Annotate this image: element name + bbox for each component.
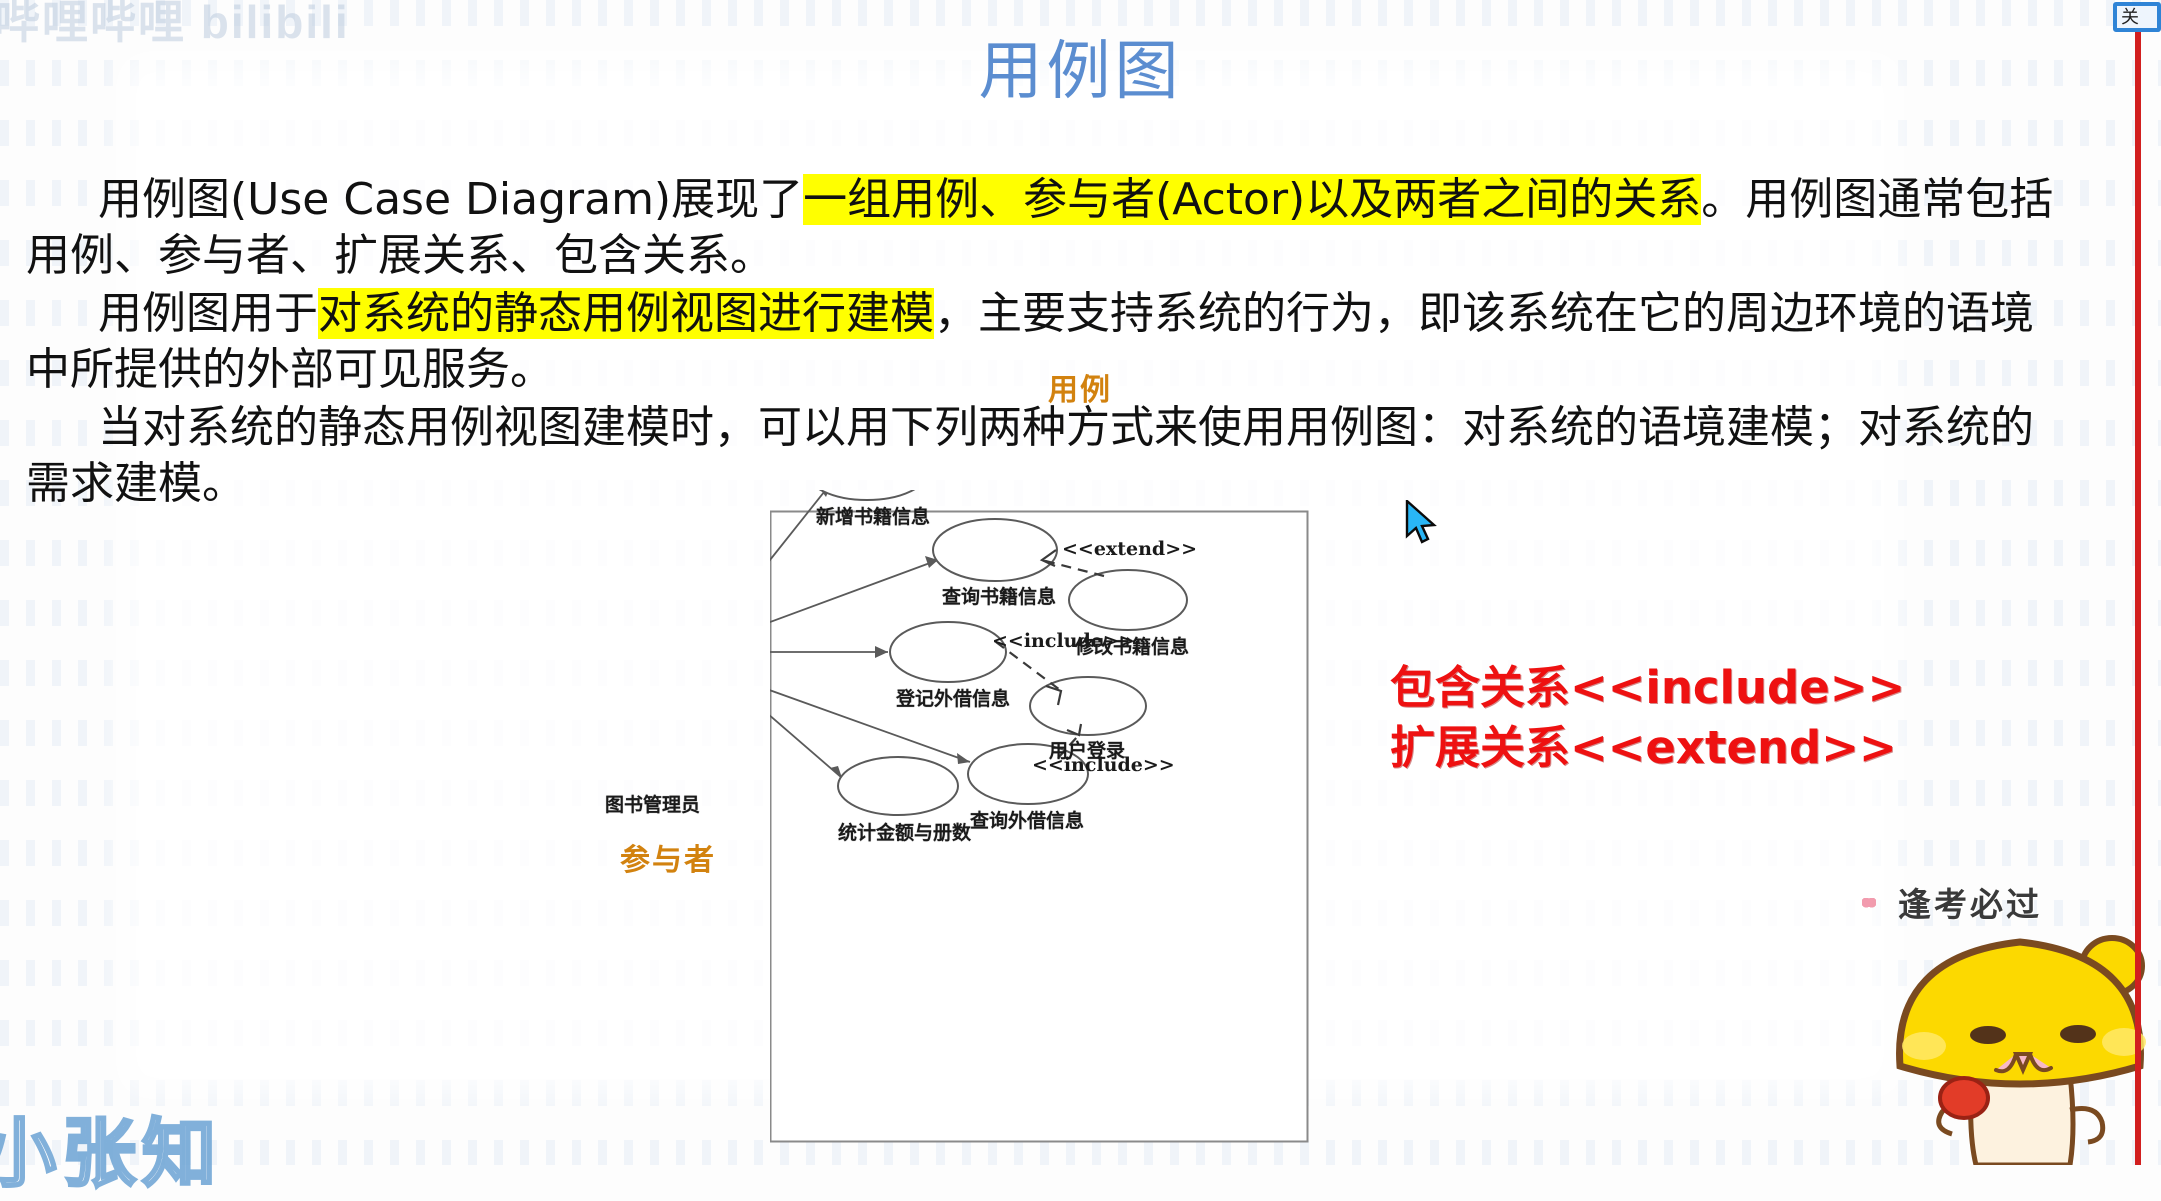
use-case-label-uc7: 查询外借信息 [970, 806, 1084, 833]
right-red-rule [2135, 22, 2141, 1165]
mascot-canvas [1880, 870, 2161, 1165]
callout-line-include: 包含关系<<include>> [1390, 658, 1905, 718]
cursor-arrow-icon [1407, 501, 1434, 542]
use-case-ellipse-uc3 [1069, 570, 1187, 630]
mascot-blush-left [1902, 1032, 1946, 1060]
mascot-eye-left [1970, 1026, 2006, 1044]
use-case-ellipse-uc4 [890, 622, 1006, 682]
stereotype-include-1: <<include>> [992, 630, 1135, 652]
p2-highlight: 对系统的静态用例视图进行建模 [318, 288, 934, 339]
use-case-ellipse-uc6 [838, 757, 958, 815]
annotation-actor-label: 参与者 [620, 835, 716, 879]
mascot-red-item [1940, 1078, 1988, 1118]
bottom-left-watermark: 小张知 [0, 1094, 222, 1201]
callout-line-extend: 扩展关系<<extend>> [1390, 718, 1905, 778]
top-right-chip[interactable]: 关 [2113, 2, 2161, 32]
slide-body: 用例图(Use Case Diagram)展现了一组用例、参与者(Actor)以… [26, 172, 2071, 514]
use-case-label-uc2: 查询书籍信息 [942, 582, 1056, 609]
mascot-mushroom-character [1880, 870, 2161, 1165]
paragraph-1: 用例图(Use Case Diagram)展现了一组用例、参与者(Actor)以… [26, 172, 2071, 284]
p2-seg-0: 用例图用于 [98, 288, 318, 339]
p1-highlight: 一组用例、参与者(Actor)以及两者之间的关系 [803, 174, 1701, 225]
stereotype-include-2: <<include>> [1032, 754, 1175, 776]
use-case-ellipse-uc2 [933, 519, 1057, 581]
use-case-label-uc1: 新增书籍信息 [816, 502, 930, 529]
stereotype-extend: <<extend>> [1062, 538, 1197, 560]
use-case-label-uc4: 登记外借信息 [896, 684, 1010, 711]
annotation-usecase-label: 用例 [1048, 365, 1112, 409]
mascot-body [1900, 938, 2146, 1165]
relationship-callout: 包含关系<<include>> 扩展关系<<extend>> [1390, 658, 1905, 778]
p1-seg-0: 用例图(Use Case Diagram)展现了 [98, 174, 803, 225]
use-case-ellipse-uc1 [805, 490, 929, 500]
actor-name-label: 图书管理员 [605, 790, 700, 817]
mouse-cursor [1405, 500, 1439, 548]
heart-icon [1862, 898, 1876, 911]
use-case-label-uc6: 统计金额与册数 [838, 818, 971, 845]
use-case-diagram: 用例 参与者 图书管理员 新增书籍信息 查询书籍信息 修改书籍信息 登记外借信息… [770, 490, 1330, 1165]
page-title: 用例图 [0, 40, 2161, 104]
mascot-eye-right [2060, 1025, 2096, 1043]
